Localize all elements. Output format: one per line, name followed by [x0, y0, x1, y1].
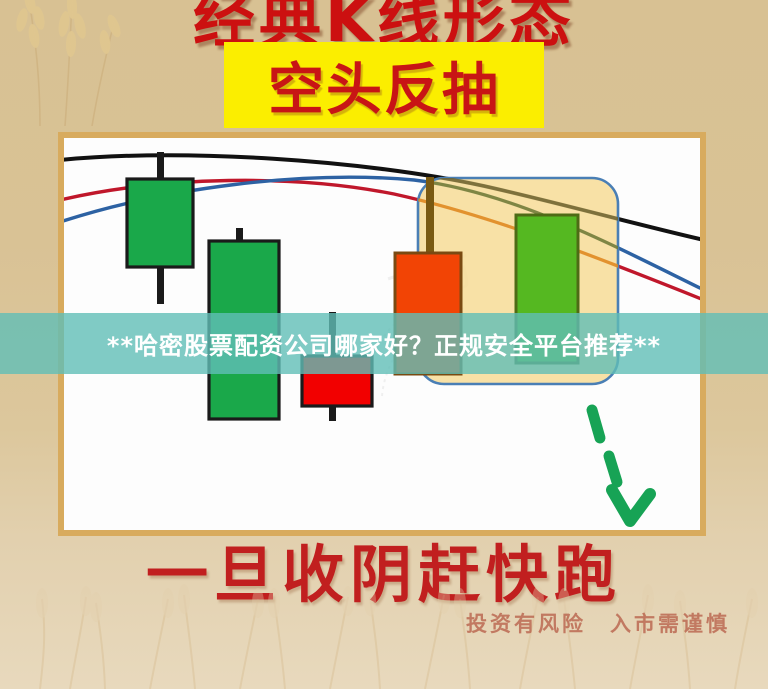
promo-banner-text: **哈密股票配资公司哪家好？正规安全平台推荐** [107, 326, 661, 361]
bottom-slogan: 一旦收阴赶快跑 [0, 534, 768, 616]
promo-banner[interactable]: **哈密股票配资公司哪家好？正规安全平台推荐** [0, 313, 768, 374]
down-trend-arrow-icon [592, 410, 617, 482]
risk-disclaimer: 投资有风险 入市需谨慎 [466, 608, 730, 638]
subtitle-text: 空头反抽 [268, 45, 500, 126]
subtitle-banner: 空头反抽 [224, 42, 544, 128]
poster-background: 经典K线形态 空头反抽 东方 [0, 0, 768, 689]
candle-1 [127, 152, 193, 304]
arrow-head-icon [612, 490, 650, 521]
